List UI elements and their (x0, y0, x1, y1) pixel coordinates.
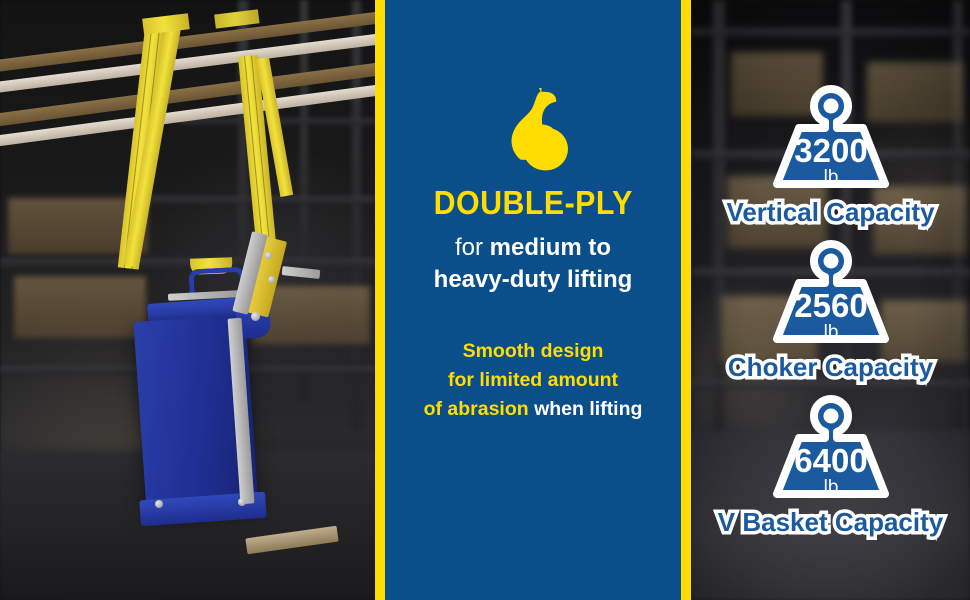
subhead-light-text: for (455, 234, 490, 261)
smooth-line-3-rest: when lifting (529, 398, 643, 420)
pallet-load (14, 276, 146, 338)
promo-banner: DOUBLE-PLY for medium to heavy-duty lift… (0, 0, 970, 600)
capacity-badge: 6400 lb V Basket Capacity V Basket Capac… (691, 392, 970, 537)
smooth-line-2: for limited amount (448, 369, 618, 391)
headline: DOUBLE-PLY (433, 186, 632, 219)
weight-icon: 3200 lb (742, 82, 920, 198)
capacity-label-fill: V Basket Capacity (718, 508, 943, 537)
capacity-label: V Basket Capacity V Basket Capacity (718, 508, 943, 537)
weight-icon: 2560 lb (742, 237, 920, 353)
clamp-bolt (155, 500, 163, 508)
clamp-bolt (268, 276, 275, 283)
clamp-bolt (238, 498, 246, 506)
weight-icon: 6400 lb (742, 392, 920, 508)
capacity-unit: lb (823, 167, 838, 188)
smooth-line-3-highlight: of abrasion (424, 398, 529, 420)
clamp-bolt (265, 252, 272, 259)
smooth-line-1: Smooth design (463, 340, 604, 362)
capacity-unit: lb (823, 477, 838, 498)
capacity-label: Vertical Capacity Vertical Capacity (726, 198, 934, 227)
divider-right (681, 0, 691, 600)
capacity-value: 3200 (794, 132, 867, 169)
divider-left (375, 0, 385, 600)
capacity-unit: lb (823, 322, 838, 343)
subheadline: for medium to heavy-duty lifting (434, 232, 633, 295)
capacity-badge: 2560 lb Choker Capacity Choker Capacity (691, 237, 970, 382)
rack-beam (0, 258, 375, 268)
capacity-label-fill: Vertical Capacity (726, 198, 934, 227)
capacity-badge: 3200 lb Vertical Capacity Vertical Capac… (691, 82, 970, 227)
capacity-value: 6400 (794, 442, 867, 479)
product-photo-left (0, 0, 375, 600)
smooth-design-text: Smooth design for limited amount of abra… (424, 337, 643, 424)
flexed-bicep-icon (497, 88, 569, 176)
center-message-panel: DOUBLE-PLY for medium to heavy-duty lift… (385, 0, 681, 600)
subhead-bold-text: medium to (490, 234, 611, 261)
clamp-bolt (251, 312, 260, 321)
capacity-label: Choker Capacity Choker Capacity (728, 353, 933, 382)
subhead-bold-text-2: heavy-duty lifting (434, 266, 633, 293)
capacity-value: 2560 (794, 287, 867, 324)
capacity-panel: 3200 lb Vertical Capacity Vertical Capac… (691, 0, 970, 600)
capacity-label-fill: Choker Capacity (728, 353, 933, 382)
